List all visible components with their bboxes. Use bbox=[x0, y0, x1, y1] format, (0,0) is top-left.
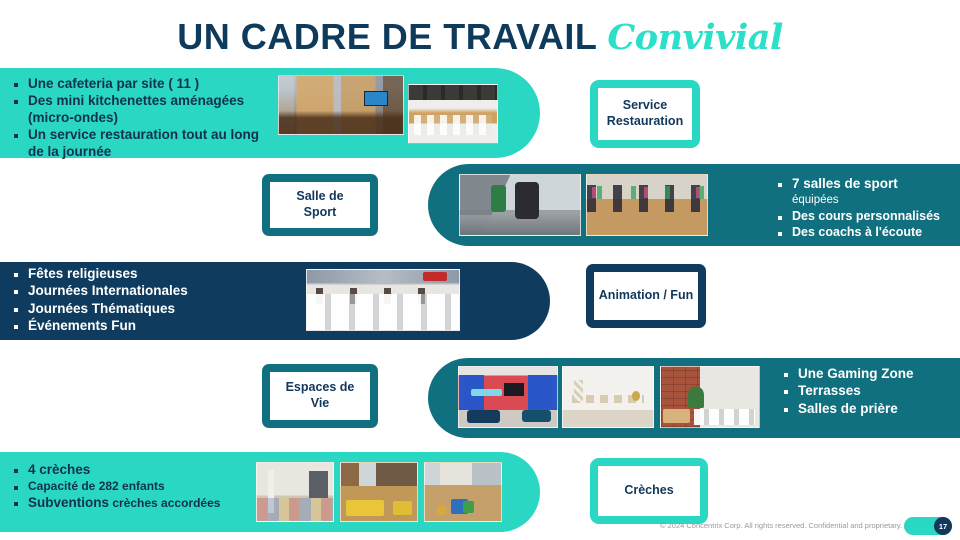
list-item: 7 salles de sportéquipées bbox=[778, 176, 950, 208]
page-number: 17 bbox=[934, 517, 952, 535]
chip-creches[interactable]: Crèches bbox=[590, 458, 708, 524]
list-item: Des coachs à l'écoute bbox=[778, 225, 950, 240]
photo-terrace-area bbox=[660, 366, 760, 428]
chip-label-line2: Restauration bbox=[607, 114, 683, 128]
chip-label-line1: Service bbox=[623, 98, 667, 112]
chip-animation-fun[interactable]: Animation / Fun bbox=[586, 264, 706, 328]
footer-copyright: © 2024 Concentrix Corp. All rights reser… bbox=[660, 521, 902, 530]
chip-label: Service Restauration bbox=[598, 88, 692, 140]
chip-label-line1: Animation / Fun bbox=[599, 288, 693, 304]
bullets-creches: 4 crèches Capacité de 282 enfants Subven… bbox=[14, 462, 244, 513]
bullets-animation-fun: Fêtes religieuses Journées International… bbox=[14, 266, 294, 336]
photo-prayer-room bbox=[562, 366, 654, 428]
photo-gym-group-class bbox=[586, 174, 708, 236]
chip-label: Animation / Fun bbox=[594, 272, 698, 320]
photo-cafeteria-glass-front bbox=[278, 75, 404, 135]
chip-label: Crèches bbox=[598, 466, 700, 516]
list-item: Salles de prière bbox=[784, 401, 950, 417]
chip-salle-de-sport[interactable]: Salle de Sport bbox=[262, 174, 378, 236]
list-item-rest: crèches accordées bbox=[109, 496, 220, 510]
list-item: Terrasses bbox=[784, 383, 950, 399]
photo-gym-treadmills bbox=[459, 174, 581, 236]
list-item: 4 crèches bbox=[14, 462, 244, 478]
chip-label-line2: Sport bbox=[304, 205, 337, 219]
list-item: Journées Internationales bbox=[14, 283, 294, 299]
bullets-salle-de-sport: 7 salles de sportéquipées Des cours pers… bbox=[778, 176, 950, 241]
photo-cooking-team-group bbox=[306, 269, 460, 331]
chip-label-line1: Espaces de bbox=[286, 380, 355, 394]
list-item: Une Gaming Zone bbox=[784, 366, 950, 382]
chip-service-restauration[interactable]: Service Restauration bbox=[590, 80, 700, 148]
list-item-bold: Subventions bbox=[28, 495, 109, 510]
chip-label-line1: Crèches bbox=[624, 483, 673, 499]
list-item: Une cafeteria par site ( 11 ) bbox=[14, 76, 264, 92]
photo-nursery-toys-room bbox=[424, 462, 502, 522]
bullets-restauration: Une cafeteria par site ( 11 ) Des mini k… bbox=[14, 76, 264, 161]
chip-label: Espaces de Vie bbox=[270, 372, 370, 420]
chip-label-line2: Vie bbox=[311, 396, 330, 410]
list-item-bold: 7 salles de sport bbox=[792, 176, 898, 191]
title-script-text: Convivial bbox=[607, 17, 782, 58]
list-item: Un service restauration tout au long de … bbox=[14, 127, 264, 160]
title-main-text: UN CADRE DE TRAVAIL bbox=[177, 16, 597, 57]
list-item-sub: équipées bbox=[792, 194, 839, 206]
page-indicator: 17 bbox=[904, 517, 952, 535]
list-item: Des cours personnalisés bbox=[778, 209, 950, 224]
photo-gaming-zone bbox=[458, 366, 558, 428]
list-item: Événements Fun bbox=[14, 318, 294, 334]
photo-cafeteria-long-table bbox=[408, 84, 498, 144]
chip-label: Salle de Sport bbox=[270, 182, 370, 228]
list-item: Fêtes religieuses bbox=[14, 266, 294, 282]
slide-canvas: UN CADRE DE TRAVAILConvivial Une cafeter… bbox=[0, 0, 960, 540]
photo-nursery-yellow-furniture bbox=[340, 462, 418, 522]
list-item: Journées Thématiques bbox=[14, 301, 294, 317]
page-title: UN CADRE DE TRAVAILConvivial bbox=[0, 16, 960, 58]
chip-label-line1: Salle de bbox=[296, 189, 343, 203]
list-item: Capacité de 282 enfants bbox=[14, 479, 244, 494]
chip-espaces-de-vie[interactable]: Espaces de Vie bbox=[262, 364, 378, 428]
bullets-espaces-de-vie: Une Gaming Zone Terrasses Salles de priè… bbox=[784, 366, 950, 418]
list-item: Des mini kitchenettes aménagées (micro-o… bbox=[14, 93, 264, 126]
list-item: Subventions crèches accordées bbox=[14, 495, 244, 511]
photo-nursery-play-room bbox=[256, 462, 334, 522]
